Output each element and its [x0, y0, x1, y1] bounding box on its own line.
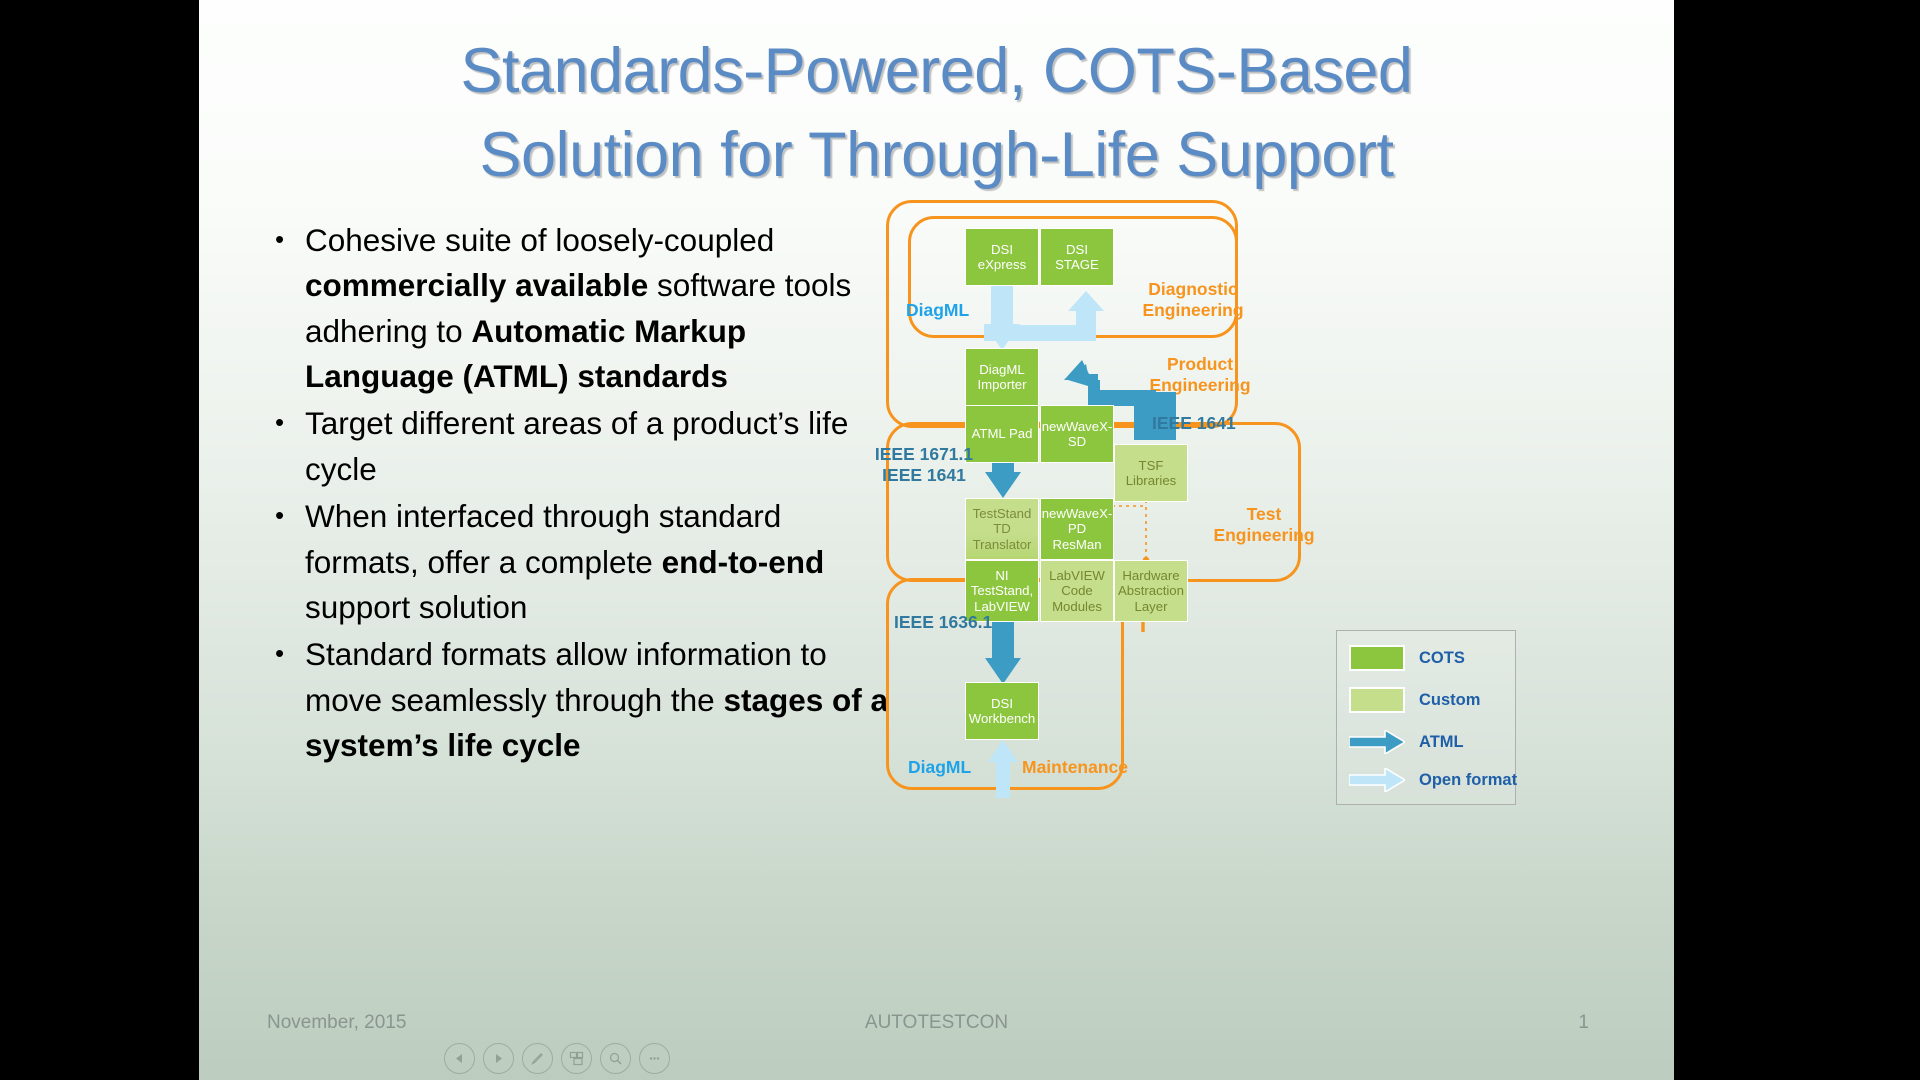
slide-title-line-1: Standards-Powered, COTS-Based [239, 30, 1634, 114]
box-label: LabVIEW Code Modules [1049, 568, 1105, 613]
box-label: ATML Pad [972, 426, 1033, 441]
bullet-text: Cohesive suite of loosely-coupled commer… [305, 218, 889, 399]
box-label: DSI STAGE [1055, 242, 1099, 272]
bullet-2: •Target different areas of a product’s l… [269, 401, 889, 492]
footer-conference: AUTOTESTCON [199, 1012, 1674, 1034]
bullet-text: Target different areas of a product’s li… [305, 401, 889, 492]
arrow-diagml-into-workbench [988, 740, 1018, 798]
legend-arrow-atml-icon [1349, 730, 1405, 754]
legend-label-open-format: Open format [1419, 771, 1517, 790]
group-label-test-engineering: Test Engineering [1209, 504, 1319, 545]
presentation-slide: Standards-Powered, COTS-Based Solution f… [199, 0, 1674, 1080]
bullet-marker: • [269, 632, 305, 768]
label-diagml-bottom: DiagML [908, 757, 971, 778]
box-label: TestStand TD Translator [973, 506, 1032, 551]
legend-row-cots: COTS [1349, 645, 1465, 671]
group-label-maintenance: Maintenance [1022, 757, 1152, 778]
box-teststand-td-translator[interactable]: TestStand TD Translator [965, 498, 1039, 560]
box-label: newWaveX- SD [1042, 419, 1113, 449]
box-label: TSF Libraries [1126, 458, 1177, 488]
screen: Standards-Powered, COTS-Based Solution f… [0, 0, 1920, 1080]
legend-label-cots: COTS [1419, 649, 1465, 668]
group-label-diagnostic-engineering: Diagnostic Engineering [1133, 279, 1253, 320]
slide-menu-button[interactable] [561, 1043, 592, 1074]
previous-slide-button[interactable] [444, 1043, 475, 1074]
bullet-3: •When interfaced through standard format… [269, 494, 889, 630]
magnifier-icon [608, 1051, 623, 1066]
label-ieee-1671-1-and-1641: IEEE 1671.1 IEEE 1641 [874, 444, 974, 486]
diagram-legend: COTS Custom ATML Open format [1336, 630, 1516, 805]
pen-icon [530, 1051, 545, 1066]
label-ieee-1636-1: IEEE 1636.1 [894, 612, 994, 633]
slide-title-line-2: Solution for Through-Life Support [239, 114, 1634, 198]
legend-label-custom: Custom [1419, 691, 1480, 710]
slide-footer: November, 2015 AUTOTESTCON 1 [199, 1012, 1674, 1046]
box-newwavex-sd[interactable]: newWaveX- SD [1040, 405, 1114, 463]
arrow-open-format-to-dsi-stage [984, 291, 1104, 351]
legend-row-custom: Custom [1349, 687, 1480, 713]
ellipsis-icon [647, 1051, 662, 1066]
legend-row-open-format: Open format [1349, 768, 1517, 792]
bullet-4: •Standard formats allow information to m… [269, 632, 889, 768]
box-atml-pad[interactable]: ATML Pad [965, 405, 1039, 463]
box-label: DSI Workbench [969, 696, 1035, 726]
triangle-left-icon [454, 1053, 465, 1064]
box-dsi-workbench[interactable]: DSI Workbench [965, 682, 1039, 740]
bullet-text: When interfaced through standard formats… [305, 494, 889, 630]
box-label: Hardware Abstraction Layer [1118, 568, 1184, 613]
bullet-marker: • [269, 218, 305, 399]
slideshow-controls [444, 1043, 670, 1074]
legend-swatch-custom [1349, 687, 1405, 713]
more-options-button[interactable] [639, 1043, 670, 1074]
box-diagml-importer[interactable]: DiagML Importer [965, 348, 1039, 406]
box-dsi-stage[interactable]: DSI STAGE [1040, 228, 1114, 286]
legend-label-atml: ATML [1419, 733, 1464, 752]
box-dsi-express[interactable]: DSI eXpress [965, 228, 1039, 286]
legend-row-atml: ATML [1349, 730, 1464, 754]
box-hardware-abstraction-layer[interactable]: Hardware Abstraction Layer [1114, 560, 1188, 622]
footer-page-number: 1 [1578, 1012, 1589, 1034]
box-label: newWaveX- PD ResMan [1042, 506, 1113, 551]
box-labview-code-modules[interactable]: LabVIEW Code Modules [1040, 560, 1114, 622]
slide-title: Standards-Powered, COTS-Based Solution f… [239, 30, 1634, 198]
legend-swatch-cots [1349, 645, 1405, 671]
bullet-1: •Cohesive suite of loosely-coupled comme… [269, 218, 889, 399]
pen-tool-button[interactable] [522, 1043, 553, 1074]
box-label: DiagML Importer [977, 362, 1026, 392]
zoom-button[interactable] [600, 1043, 631, 1074]
next-slide-button[interactable] [483, 1043, 514, 1074]
bullet-text: Standard formats allow information to mo… [305, 632, 889, 768]
bullet-list: •Cohesive suite of loosely-coupled comme… [269, 218, 889, 770]
box-label: DSI eXpress [978, 242, 1026, 272]
box-newwavex-pd-resman[interactable]: newWaveX- PD ResMan [1040, 498, 1114, 560]
legend-arrow-open-format-icon [1349, 768, 1405, 792]
slides-grid-icon [569, 1051, 584, 1066]
box-tsf-libraries[interactable]: TSF Libraries [1114, 444, 1188, 502]
triangle-right-icon [493, 1053, 504, 1064]
bullet-marker: • [269, 401, 305, 492]
architecture-diagram: Diagnostic Engineering Product Engineeri… [884, 192, 1619, 812]
box-label: NI TestStand, LabVIEW [971, 568, 1033, 613]
label-diagml-top: DiagML [906, 300, 969, 321]
label-ieee-1641-right: IEEE 1641 [1152, 413, 1262, 434]
bullet-marker: • [269, 494, 305, 630]
